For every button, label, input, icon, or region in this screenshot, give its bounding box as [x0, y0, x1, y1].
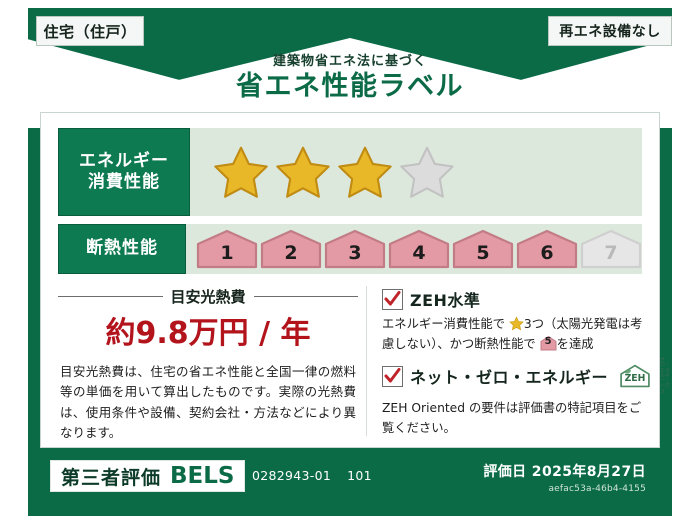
insulation-level-value: 5	[476, 242, 489, 269]
insulation-label-text: 断熱性能	[86, 238, 158, 259]
utility-cost-value: 約9.8万円 / 年	[58, 308, 358, 352]
insulation-level-chip: 7	[580, 229, 642, 269]
insulation-level-chip: 6	[516, 229, 578, 269]
insulation-level-chip: 5	[452, 229, 514, 269]
insulation-row: 断熱性能 1234567	[58, 224, 642, 274]
inline-level-value: 5	[540, 334, 557, 350]
zeh-body-part3: を達成	[557, 337, 594, 351]
bels-wordmark: BELS	[170, 463, 234, 489]
bels-badge: 第三者評価 BELS	[50, 460, 245, 492]
footer-bar: 第三者評価 BELS 0282943-01101 評価日 2025年8月27日 …	[40, 452, 660, 508]
insulation-level-scale: 1234567	[186, 224, 642, 274]
checkbox-checked-icon[interactable]	[382, 289, 403, 310]
insulation-level-value: 3	[348, 242, 361, 269]
energy-performance-label: 住宅（住戸） 再エネ設備なし 建築物省エネ法に基づく 省エネ性能ラベル エネルギ…	[0, 0, 700, 525]
inline-star-icon	[509, 316, 524, 331]
energy-consumption-label-line2: 消費性能	[88, 172, 160, 193]
net-zero-energy-block: ネット・ゼロ・エネルギー ZEH ゼロ・ エネルギー・ハウス ZEH Orien…	[382, 358, 648, 439]
insulation-level-value: 1	[220, 242, 233, 269]
utility-cost-heading: 目安光熱費	[58, 286, 358, 306]
utility-cost-note: 目安光熱費は、住宅の省エネ性能と全国一律の燃料等の単価を用いて算出したものです。…	[60, 362, 356, 443]
building-type-tag: 住宅（住戸）	[36, 16, 144, 46]
insulation-level-chip: 1	[196, 229, 258, 269]
bels-code-suffix: 101	[347, 468, 372, 483]
zeh-standard-block: ZEH水準 エネルギー消費性能で 3つ（太陽光発電は考慮しない）、かつ断熱性能で…	[382, 287, 648, 355]
net-zero-energy-title: ネット・ゼロ・エネルギー	[410, 364, 608, 388]
title-main: 省エネ性能ラベル	[180, 72, 520, 102]
evaluation-date: 評価日 2025年8月27日	[483, 461, 646, 481]
insulation-level-value: 6	[540, 242, 553, 269]
star-filled-icon	[212, 144, 270, 200]
net-zero-energy-body: ZEH Oriented の要件は評価書の特記項目をご覧ください。	[382, 399, 648, 439]
renewable-equipment-tag: 再エネ設備なし	[548, 16, 672, 46]
net-zero-energy-header: ネット・ゼロ・エネルギー ZEH ゼロ・ エネルギー・ハウス	[382, 358, 648, 395]
zeh-body-part1: エネルギー消費性能で	[382, 317, 505, 331]
insulation-level-value: 7	[604, 242, 617, 269]
utility-cost-heading-text: 目安光熱費	[171, 286, 246, 307]
energy-consumption-label: エネルギー 消費性能	[58, 128, 190, 216]
insulation-level-chip: 2	[260, 229, 322, 269]
title-subtitle: 建築物省エネ法に基づく	[180, 50, 520, 69]
rule-left	[58, 296, 163, 297]
insulation-label: 断熱性能	[58, 224, 186, 274]
inline-level-chip-icon: 5	[540, 335, 557, 350]
energy-consumption-label-line1: エネルギー	[79, 151, 169, 172]
energy-star-rating	[190, 128, 642, 216]
insulation-level-value: 2	[284, 242, 297, 269]
rule-right	[254, 296, 359, 297]
energy-consumption-row: エネルギー 消費性能	[58, 128, 642, 216]
bels-code-number: 0282943-01	[252, 468, 331, 483]
evaluation-id: aefac53a-46b4-4155	[483, 484, 646, 494]
star-empty-icon	[398, 144, 456, 200]
star-filled-icon	[336, 144, 394, 200]
zeh-house-logo-icon: ZEH	[618, 364, 652, 388]
star-filled-icon	[274, 144, 332, 200]
zeh-logo-caption: ゼロ・ エネルギー・ハウス	[660, 358, 670, 395]
insulation-level-chip: 4	[388, 229, 450, 269]
insulation-level-chip: 3	[324, 229, 386, 269]
zeh-standard-title: ZEH水準	[410, 287, 480, 311]
vertical-divider	[366, 286, 367, 436]
zeh-standard-header: ZEH水準	[382, 287, 648, 311]
insulation-level-value: 4	[412, 242, 425, 269]
svg-text:ZEH: ZEH	[625, 373, 646, 384]
zeh-logo-caption-line2: エネルギー・ハウス	[660, 368, 670, 395]
bels-code: 0282943-01101	[252, 468, 372, 483]
third-party-label: 第三者評価	[61, 463, 161, 490]
evaluation-date-block: 評価日 2025年8月27日 aefac53a-46b4-4155	[483, 461, 646, 494]
checkbox-checked-icon[interactable]	[382, 366, 403, 387]
zeh-standard-body: エネルギー消費性能で 3つ（太陽光発電は考慮しない）、かつ断熱性能で 5 を達成	[382, 315, 648, 355]
page-title: 建築物省エネ法に基づく 省エネ性能ラベル	[180, 50, 520, 102]
